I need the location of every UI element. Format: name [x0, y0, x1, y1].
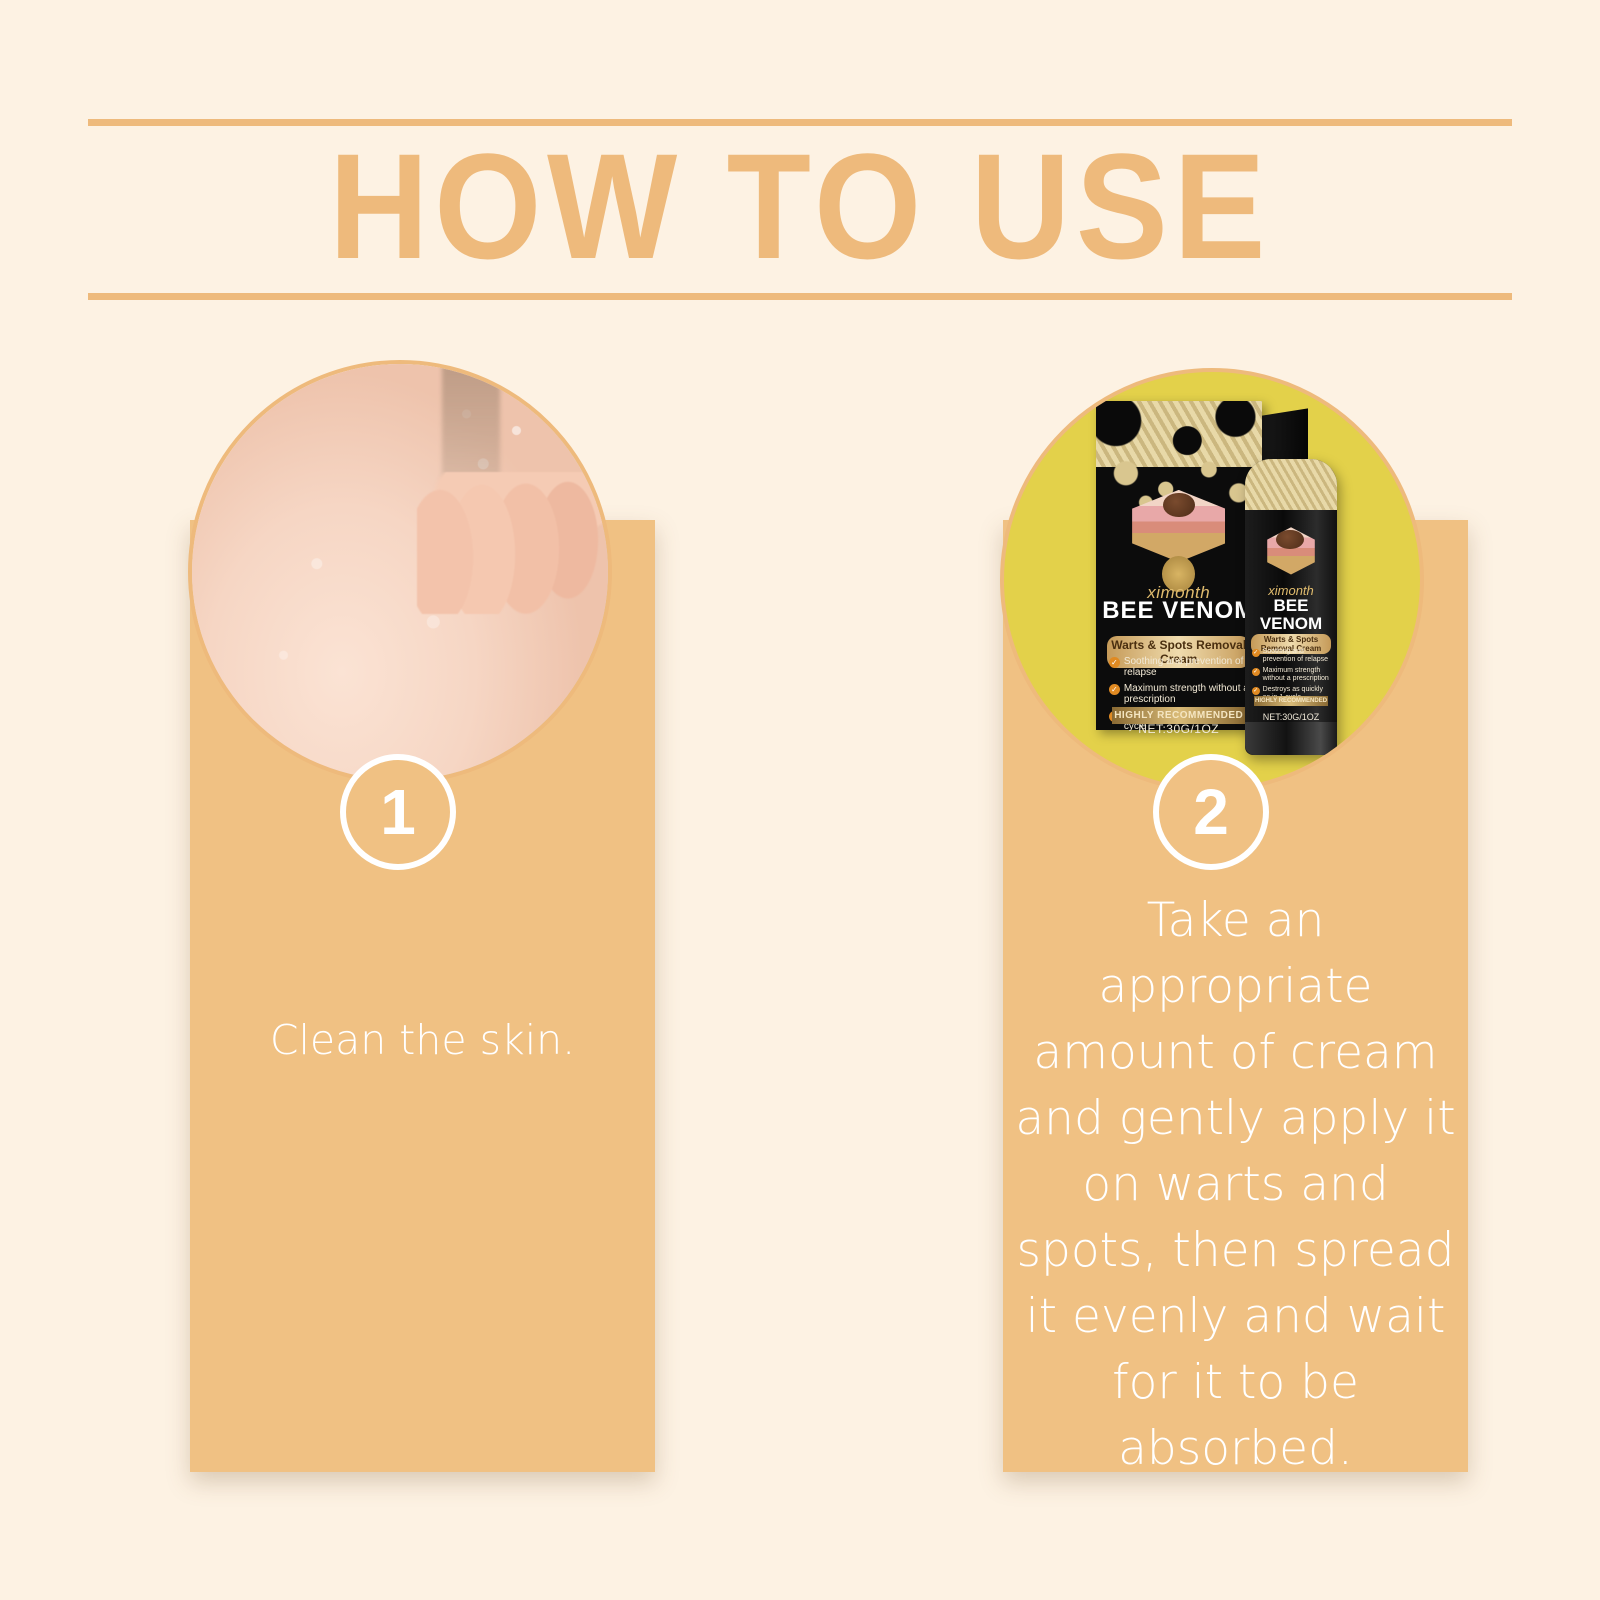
product-name: BEE VENOM	[1096, 598, 1262, 623]
check-icon: ✓	[1109, 684, 1120, 695]
step-1-image	[188, 360, 612, 784]
tube-bullet-label: Soothing and prevention of relapse	[1263, 648, 1333, 664]
honeycomb-pattern-icon	[1096, 401, 1262, 467]
tube-honeycomb-pattern-icon	[1245, 459, 1337, 509]
page-title: HOW TO USE	[145, 124, 1455, 288]
product-bullet: ✓ Soothing and prevention of relapse	[1109, 656, 1252, 678]
header: HOW TO USE	[88, 110, 1512, 305]
product-tube: ximonth BEE VENOM Warts & Spots Removal …	[1245, 459, 1337, 754]
product-bullet: ✓ Maximum strength without a prescriptio…	[1109, 683, 1252, 705]
tube-product-name: BEE VENOM	[1245, 597, 1337, 633]
step-2-caption: Take an appropriate amount of cream and …	[1015, 888, 1456, 1482]
step-2-image: ximonth BEE VENOM Warts & Spots Removal …	[1000, 368, 1424, 792]
check-icon: ✓	[1252, 649, 1260, 657]
step-1-caption: Clean the skin.	[202, 1012, 643, 1068]
tube-net-weight: NET:30G/1OZ	[1245, 712, 1337, 722]
tube-bullet: ✓ Soothing and prevention of relapse	[1252, 648, 1333, 664]
infographic-page: HOW TO USE Clean the skin. 1 Take an app…	[0, 0, 1600, 1600]
hand-on-shoulder	[417, 472, 608, 613]
product-box: ximonth BEE VENOM Warts & Spots Removal …	[1096, 401, 1262, 730]
step-1-number-badge: 1	[340, 754, 456, 870]
tube-cap	[1245, 722, 1337, 754]
check-icon: ✓	[1252, 687, 1260, 695]
product-net-weight: NET:30G/1OZ	[1096, 722, 1262, 736]
shower-photo	[192, 364, 608, 780]
tube-bullet: ✓ Maximum strength without a prescriptio…	[1252, 667, 1333, 683]
product-photo: ximonth BEE VENOM Warts & Spots Removal …	[1004, 372, 1420, 788]
tube-bullet-label: Maximum strength without a prescription	[1263, 667, 1333, 683]
product-bullet-label: Maximum strength without a prescription	[1124, 683, 1252, 705]
tube-ribbon: HIGHLY RECOMMENDED	[1254, 696, 1327, 706]
header-rule-bottom	[88, 293, 1512, 300]
step-2-number-badge: 2	[1153, 754, 1269, 870]
check-icon: ✓	[1109, 657, 1120, 668]
check-icon: ✓	[1252, 668, 1260, 676]
product-bullet-label: Soothing and prevention of relapse	[1124, 656, 1252, 678]
wart-icon	[1163, 493, 1195, 518]
